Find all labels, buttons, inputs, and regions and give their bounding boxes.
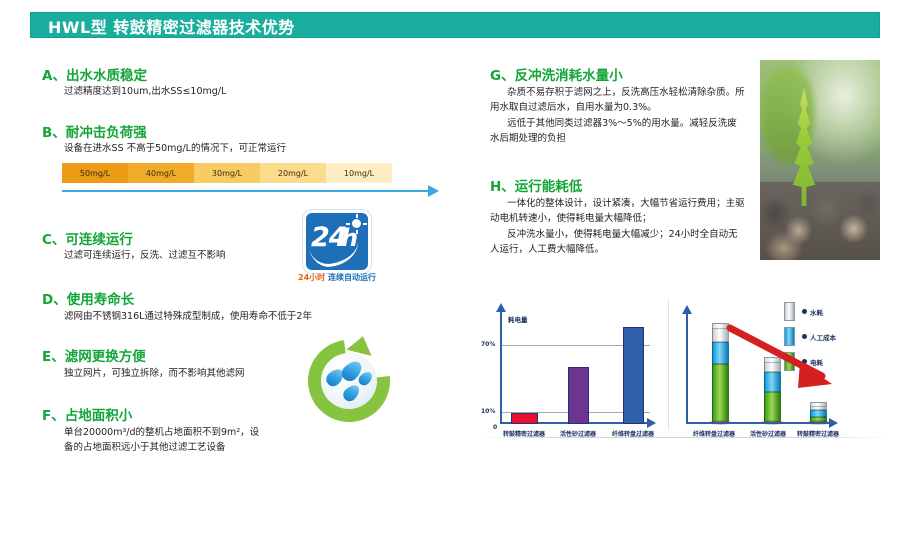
page-title: HWL型 转鼓精密过滤器技术优势	[48, 14, 295, 38]
bar-shadow	[807, 420, 830, 425]
section-title-b: B、耐冲击负荷强	[42, 121, 147, 141]
y-tick-70: 70%	[481, 341, 495, 348]
twentyfour-hour-icon: 24 h	[303, 210, 371, 273]
section-title-f: F、占地面积小	[42, 404, 132, 424]
section-body-a: 过滤精度达到10um,出水SS≤10mg/L	[64, 85, 394, 100]
y-tick-10: 10%	[481, 408, 495, 415]
legend-label-power: 电耗	[810, 357, 823, 367]
section-body-b: 设备在进水SS 不高于50mg/L的情况下，可正常运行	[64, 142, 404, 157]
legend-swatch-power	[784, 352, 795, 371]
photo-stones	[760, 182, 880, 260]
section-body-g-p2: 远低于其他同类过滤器3%～5%的用水量。减轻反洗废水后期处理的负担	[490, 117, 745, 146]
poster-page: HWL型 转鼓精密过滤器技术优势 A、出水水质稳定 过滤精度达到10um,出水S…	[0, 0, 900, 543]
y-axis-label: 耗电量	[508, 314, 528, 324]
x-axis-arrow-icon	[647, 418, 656, 428]
y-axis-arrow-icon	[682, 305, 692, 314]
icon24-caption: 24小时 连续自动运行	[297, 272, 377, 283]
concentration-gradient-bar: 50mg/L 40mg/L 30mg/L 20mg/L 10mg/L	[62, 163, 392, 183]
section-title-h: H、运行能耗低	[490, 175, 582, 195]
bar-shadow	[709, 420, 732, 425]
bar-2	[568, 367, 589, 424]
section-body-h-p1: 一体化的整体设计，设计紧凑，大幅节省运行费用；主驱动电机转速小，使得耗电量大幅降…	[490, 197, 745, 226]
section-title-d: D、使用寿命长	[42, 288, 134, 308]
segment-labor	[810, 410, 827, 417]
segment-power	[712, 364, 729, 422]
section-title-c: C、可连续运行	[42, 228, 133, 248]
segment-labor	[764, 372, 781, 392]
segment-water	[764, 362, 781, 372]
stacked-bar-3	[810, 406, 827, 422]
bar-1	[511, 413, 538, 424]
section-body-c: 过滤可连续运行，反洗、过滤互不影响	[64, 249, 294, 264]
stacked-bar-1	[712, 328, 729, 422]
gradient-arrow-icon	[428, 185, 439, 197]
icon24-caption-hours: 24小时	[298, 273, 325, 282]
segment-water	[712, 328, 729, 342]
y-axis-arrow-icon	[496, 303, 506, 312]
gradient-segment: 50mg/L	[62, 163, 128, 183]
segment-power	[764, 392, 781, 422]
sun-icon	[352, 219, 361, 228]
y-axis	[500, 312, 502, 424]
section-body-f: 单台20000m³/d的整机占地面积不到9m²，设备的占地面积远小于其他过滤工艺…	[64, 426, 264, 455]
bar-3	[623, 327, 644, 424]
segment-labor	[712, 342, 729, 364]
legend-label-water: 水耗	[810, 307, 823, 317]
gradient-segment: 30mg/L	[194, 163, 260, 183]
legend-dot-water	[802, 309, 807, 314]
gradient-segment: 40mg/L	[128, 163, 194, 183]
section-body-g-p1: 杂质不易存积于滤网之上，反洗高压水轻松清除杂质。所用水取自过滤后水，自用水量为0…	[490, 86, 745, 115]
x-axis-arrow-icon	[829, 418, 838, 428]
legend-label-labor: 人工成本	[810, 332, 836, 342]
chart-baseline-shadow	[478, 437, 888, 438]
chart-power-consumption: 70% 10% 0 耗电量 转鼓精密过滤器 活性砂过滤器 纤维转盘过滤器	[478, 300, 668, 445]
water-recycle-icon	[308, 340, 390, 422]
gradient-arrow-line	[62, 190, 430, 192]
y-axis	[686, 314, 688, 424]
section-title-e: E、滤网更换方便	[42, 345, 146, 365]
section-title-g: G、反冲洗消耗水量小	[490, 64, 623, 84]
chart-operating-cost: 纤维转盘过滤器 活性砂过滤器 转鼓精密过滤器 水耗 人工成本 电耗	[676, 300, 891, 445]
legend-swatch-labor	[784, 327, 795, 346]
stacked-bar-2	[764, 362, 781, 422]
section-title-a: A、出水水质稳定	[42, 64, 147, 84]
bar-shadow	[761, 420, 784, 425]
gradient-segment: 20mg/L	[260, 163, 326, 183]
icon24-caption-text: 连续自动运行	[325, 273, 376, 282]
legend-dot-power	[802, 359, 807, 364]
chart-divider	[668, 300, 669, 430]
green-plant-photo	[760, 60, 880, 260]
gradient-segment: 10mg/L	[326, 163, 392, 183]
section-body-e: 独立网片，可独立拆除，而不影响其他滤网	[64, 367, 314, 382]
section-body-d: 滤网由不锈钢316L通过特殊成型制成，使用寿命不低于2年	[64, 310, 394, 325]
legend-dot-labor	[802, 334, 807, 339]
section-body-h-p2: 反冲洗水量小，使得耗电量大幅减少；24小时全自动无人运行，人工费大幅降低。	[490, 228, 745, 257]
legend-swatch-water	[784, 302, 795, 321]
